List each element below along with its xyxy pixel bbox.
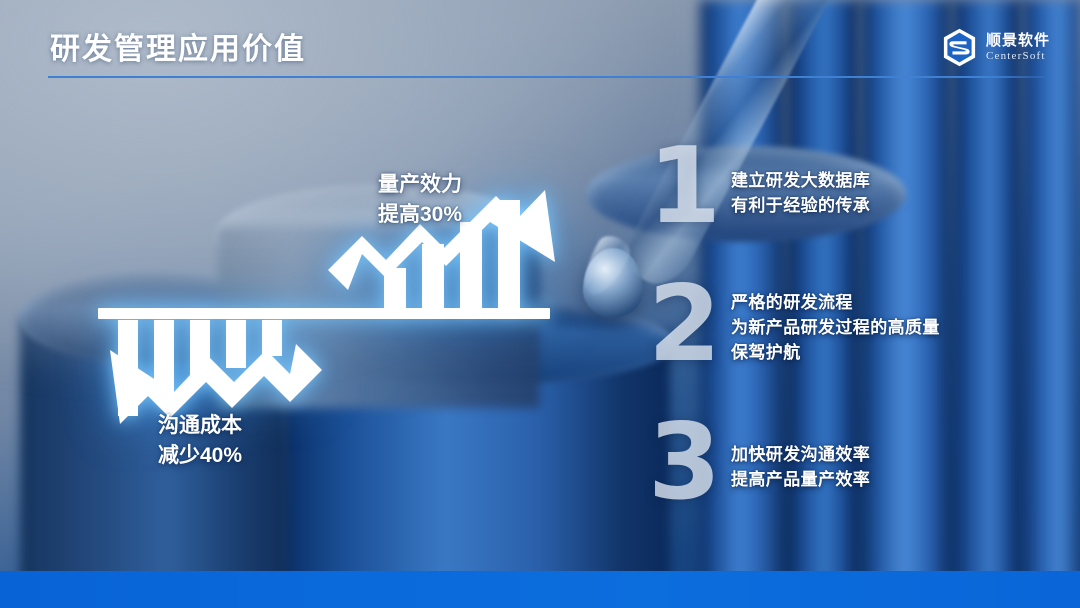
brand-logo-text: 顺景软件 CenterSoft — [986, 33, 1050, 62]
brand-name-en: CenterSoft — [986, 51, 1050, 62]
slide-footer-bar — [0, 571, 1080, 608]
value-item-2: 2 严格的研发流程 为新产品研发过程的高质量 保驾护航 — [648, 278, 940, 370]
page-title: 研发管理应用价值 — [50, 24, 306, 68]
brand-logo: 顺景软件 CenterSoft — [942, 28, 1050, 67]
hexagon-s-logo-icon — [942, 28, 977, 67]
test-tube-column-d — [952, 0, 1022, 608]
metric-label-communication-cost: 沟通成本 减少40% — [158, 411, 242, 471]
metric-label-production-efficiency: 量产效力 提高30% — [378, 170, 462, 230]
presentation-slide: 研发管理应用价值 顺景软件 CenterSoft — [0, 0, 1080, 608]
test-tube-column-e — [1022, 0, 1080, 608]
brand-name-cn: 顺景软件 — [986, 33, 1050, 48]
slide-header: 研发管理应用价值 顺景软件 CenterSoft — [0, 0, 1080, 80]
title-underline — [48, 76, 1045, 78]
value-item-3-text: 加快研发沟通效率 提高产品量产效率 — [722, 416, 870, 492]
value-item-1-text: 建立研发大数据库 有利于经验的传承 — [722, 140, 870, 218]
value-item-2-number: 2 — [648, 278, 722, 370]
value-item-3-number: 3 — [648, 416, 722, 508]
value-item-1: 1 建立研发大数据库 有利于经验的传承 — [648, 140, 870, 232]
value-item-3: 3 加快研发沟通效率 提高产品量产效率 — [648, 416, 870, 508]
value-item-2-text: 严格的研发流程 为新产品研发过程的高质量 保驾护航 — [722, 278, 940, 365]
value-item-1-number: 1 — [648, 140, 722, 232]
